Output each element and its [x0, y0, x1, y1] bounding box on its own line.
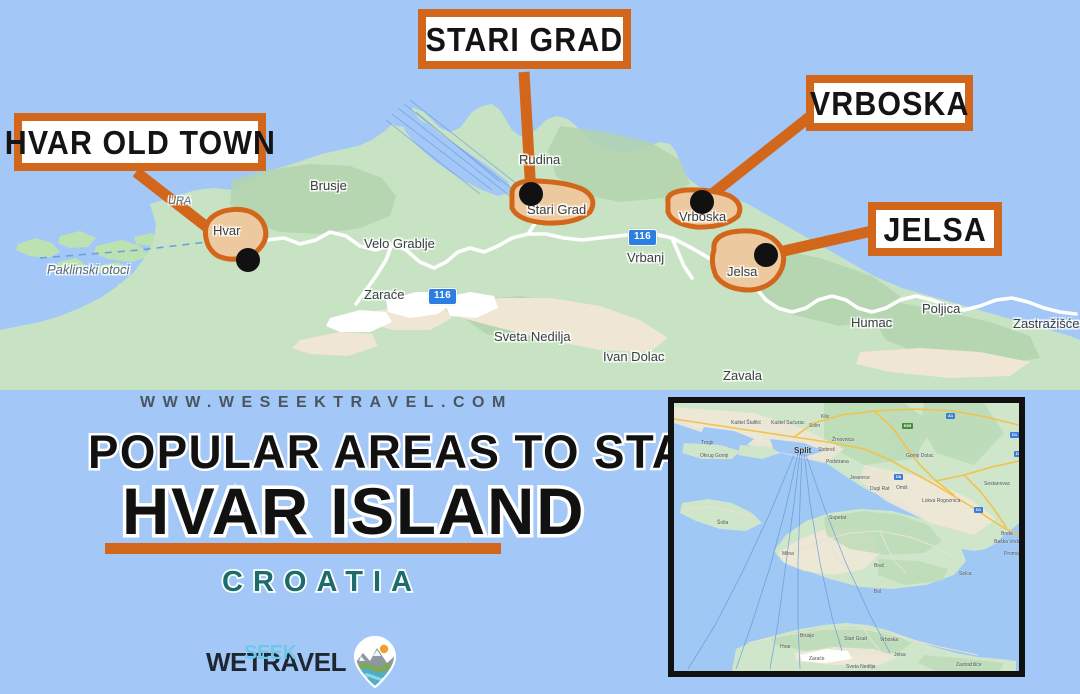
- inset-shield-d1-east: D1: [1010, 432, 1019, 438]
- callout-label-jelsa: JELSA: [883, 213, 986, 246]
- logo-wordmark: WETRAVEL SEEK: [206, 649, 346, 675]
- callout-jelsa[interactable]: JELSA: [868, 202, 1002, 256]
- inset-shield-d1-south: D1: [974, 507, 983, 513]
- connector-stari-grad: [524, 72, 531, 194]
- marker-dot-jelsa[interactable]: [754, 243, 778, 267]
- logo-text-seek: SEEK: [244, 643, 296, 663]
- marker-dot-stari-grad[interactable]: [519, 182, 543, 206]
- subheadline-country: CROATIA: [222, 566, 422, 599]
- weseektravel-logo[interactable]: WETRAVEL SEEK: [206, 636, 397, 688]
- callout-hvar-old-town[interactable]: HVAR OLD TOWN: [14, 113, 266, 171]
- infographic-root: Hvar Brusje Velo Grablje Zaraće Sveta Ne…: [0, 0, 1080, 694]
- headline-line1: POPULAR AREAS TO STAY: [88, 424, 714, 479]
- website-url: WWW.WESEEKTRAVEL.COM: [140, 394, 513, 412]
- callout-label-hvar-old-town: HVAR OLD TOWN: [4, 126, 275, 159]
- logo-text-we: WE: [206, 647, 247, 677]
- inset-shield-a1-south: A1: [1020, 491, 1025, 497]
- inset-shield-e65: E65: [902, 423, 913, 429]
- inset-shield-d8-omis: D8: [894, 474, 903, 480]
- marker-dot-hvar[interactable]: [236, 248, 260, 272]
- inset-shield-a1-north: A1: [946, 413, 955, 419]
- callout-stari-grad[interactable]: STARI GRAD: [418, 9, 631, 69]
- callout-vrboska[interactable]: VRBOSKA: [806, 75, 973, 131]
- road-shield-116-west: 116: [428, 288, 457, 305]
- callout-label-stari-grad: STARI GRAD: [426, 23, 624, 56]
- marker-dot-vrboska[interactable]: [690, 190, 714, 214]
- headline-line2: HVAR ISLAND: [122, 473, 585, 549]
- road-shield-116-east: 116: [628, 229, 657, 246]
- headline-underline-rule: [105, 543, 501, 554]
- inset-overview-map[interactable]: Split Kaštel Štafilić Kaštel Sućurac Sol…: [668, 397, 1025, 677]
- inset-map-vector: [674, 403, 1019, 671]
- callout-label-vrboska: VRBOSKA: [810, 87, 970, 120]
- inset-shield-d8-ne: D8: [1014, 451, 1023, 457]
- map-pin-mountain-icon: [353, 636, 397, 688]
